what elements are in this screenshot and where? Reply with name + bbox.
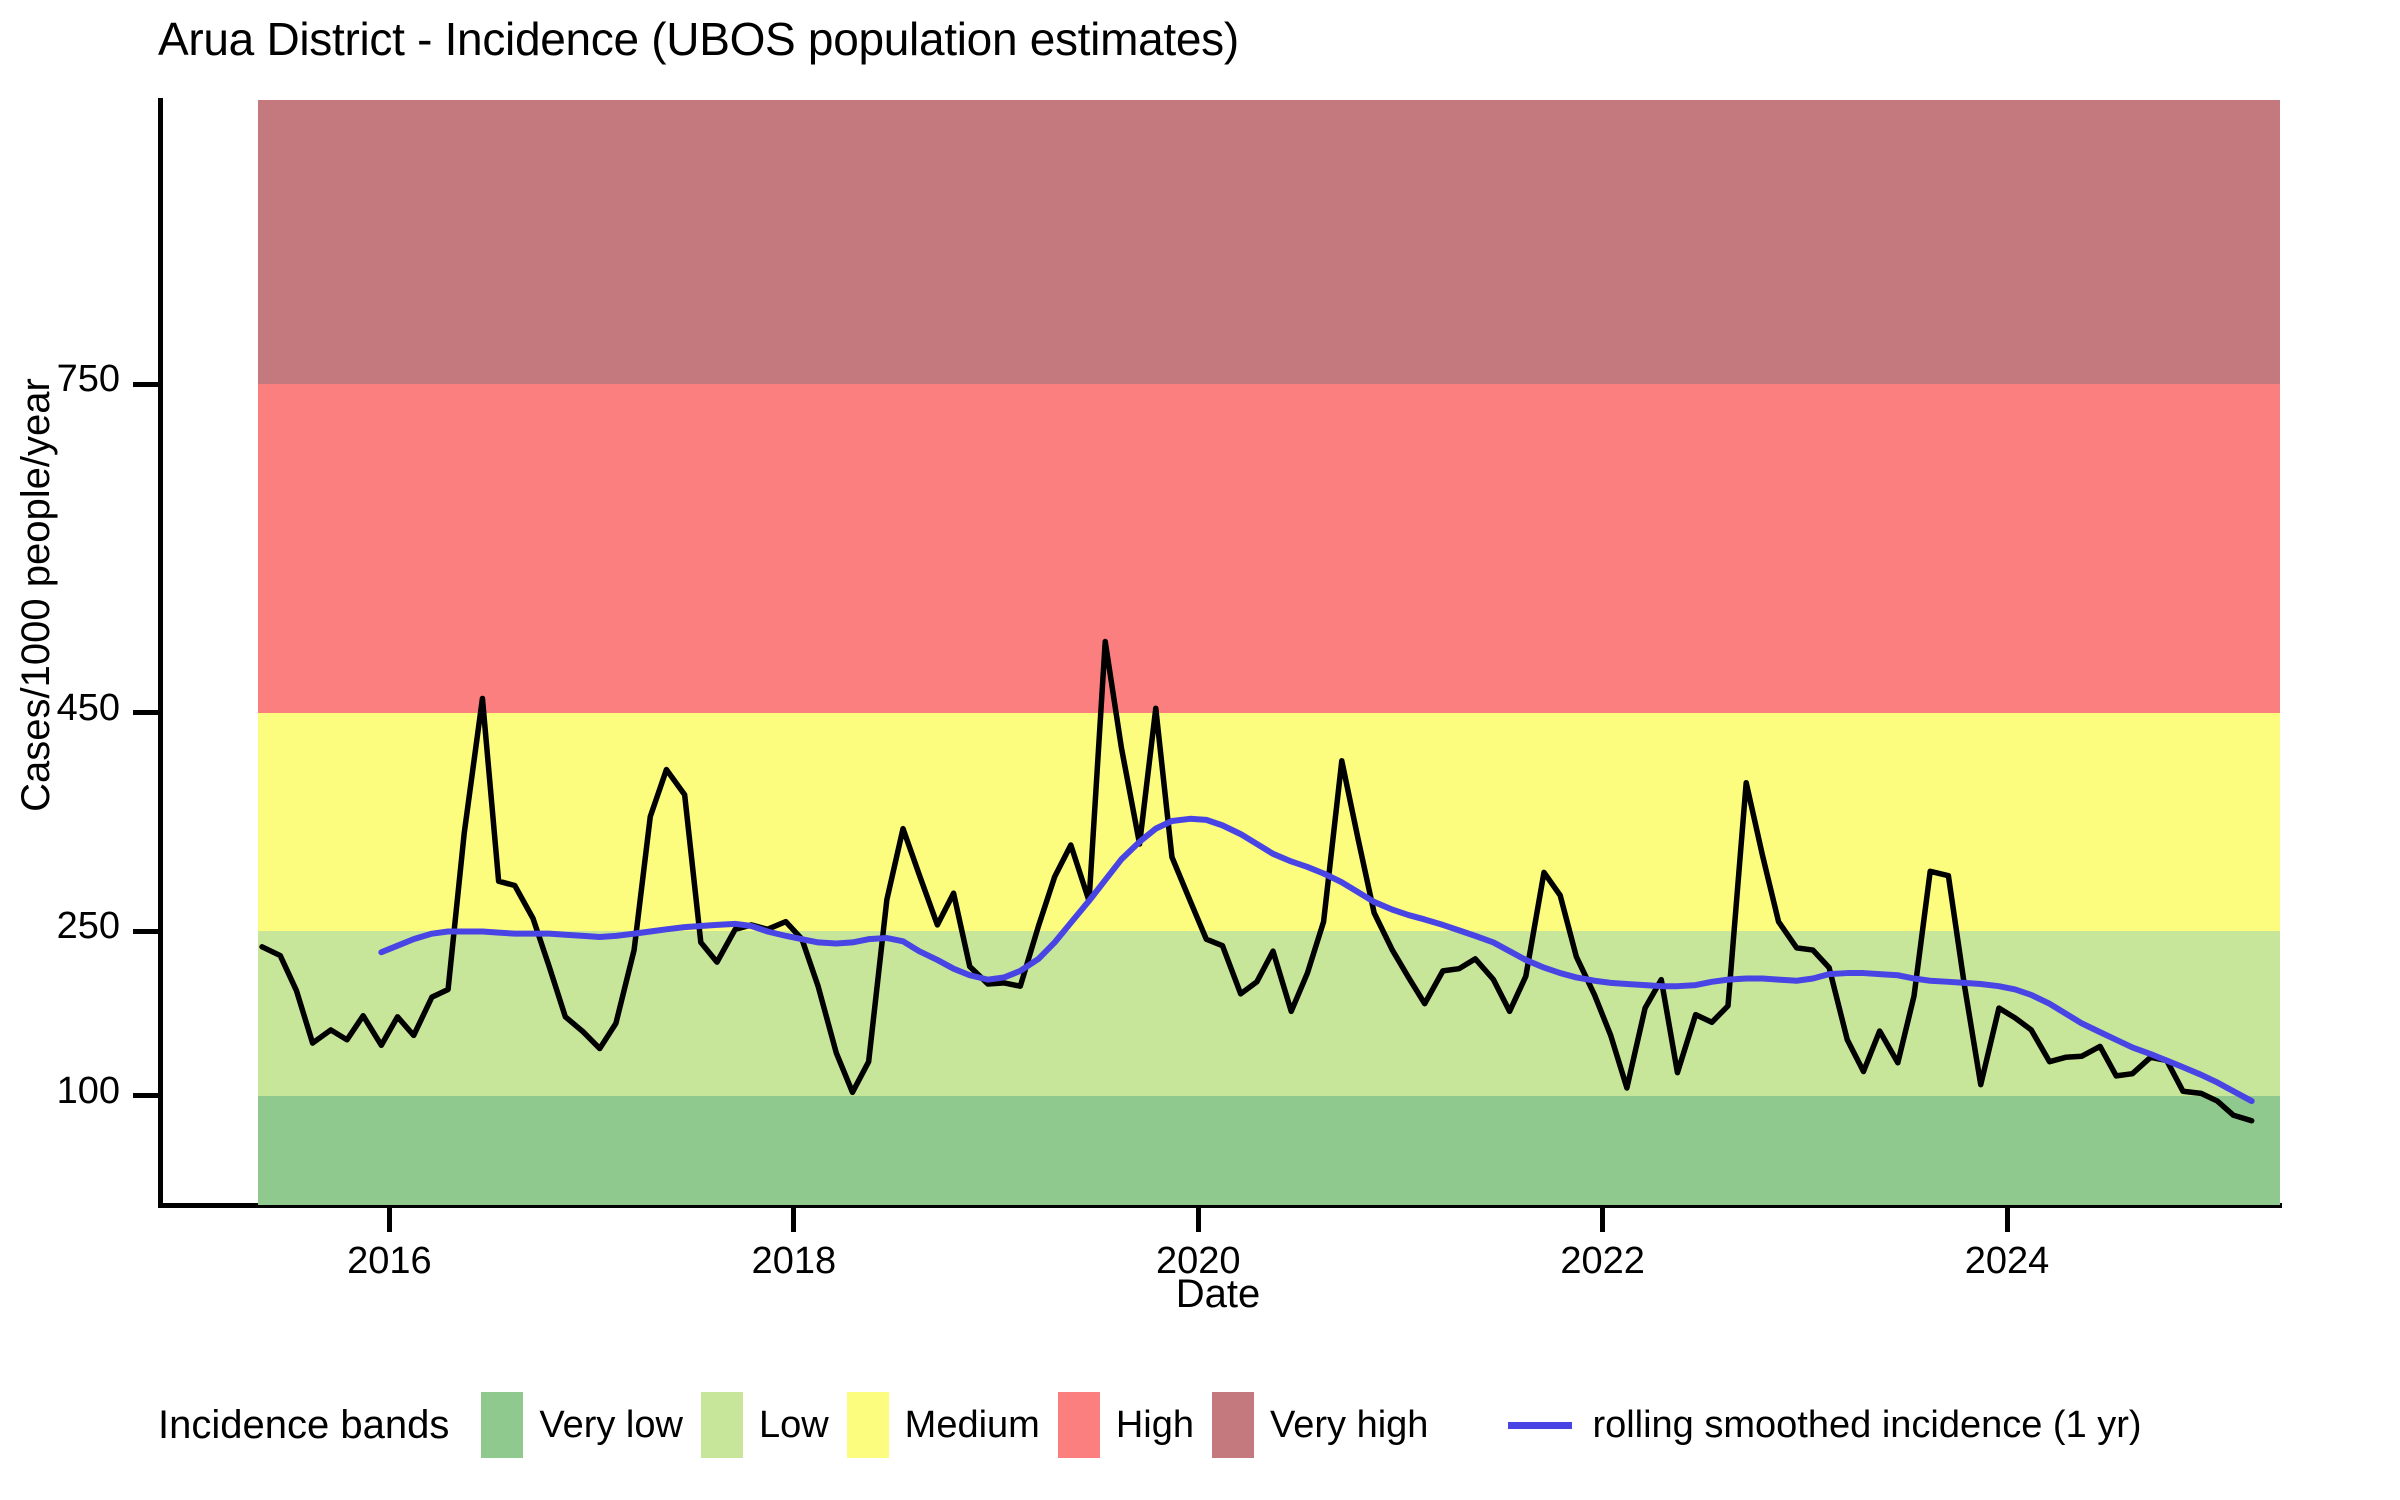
legend-item-low[interactable]: Low bbox=[701, 1392, 829, 1458]
legend-item-label: Low bbox=[759, 1404, 829, 1447]
x-axis-title: Date bbox=[158, 1272, 2278, 1317]
x-tick-2016 bbox=[387, 1208, 392, 1232]
color-swatch-icon bbox=[701, 1392, 743, 1458]
legend-item-label: rolling smoothed incidence (1 yr) bbox=[1592, 1404, 2141, 1447]
y-axis-line bbox=[158, 98, 163, 1208]
legend-item-rolling-smoothed[interactable]: rolling smoothed incidence (1 yr) bbox=[1508, 1404, 2141, 1447]
y-tick-250 bbox=[133, 929, 158, 934]
legend-item-high[interactable]: High bbox=[1058, 1392, 1194, 1458]
y-tick-450 bbox=[133, 710, 158, 715]
y-tick-750 bbox=[133, 382, 158, 387]
legend-title: Incidence bands bbox=[158, 1403, 449, 1448]
x-tick-2020 bbox=[1196, 1208, 1201, 1232]
legend: Incidence bands Very lowLowMediumHighVer… bbox=[158, 1370, 2142, 1480]
y-tick-100 bbox=[133, 1093, 158, 1098]
series-layer bbox=[258, 100, 2280, 1205]
color-swatch-icon bbox=[847, 1392, 889, 1458]
color-swatch-icon bbox=[1212, 1392, 1254, 1458]
legend-item-very-high[interactable]: Very high bbox=[1212, 1392, 1428, 1458]
y-axis-title: Cases/1000 people/year bbox=[14, 15, 58, 1175]
x-tick-2024 bbox=[2005, 1208, 2010, 1232]
legend-item-medium[interactable]: Medium bbox=[847, 1392, 1040, 1458]
y-tick-label-250: 250 bbox=[57, 905, 120, 948]
legend-item-label: Very high bbox=[1270, 1404, 1428, 1447]
y-tick-label-100: 100 bbox=[57, 1070, 120, 1113]
chart-root: Arua District - Incidence (UBOS populati… bbox=[0, 0, 2400, 1500]
y-tick-label-750: 750 bbox=[57, 358, 120, 401]
x-tick-2018 bbox=[791, 1208, 796, 1232]
color-swatch-icon bbox=[1058, 1392, 1100, 1458]
plot-panel bbox=[258, 100, 2280, 1205]
legend-item-very-low[interactable]: Very low bbox=[481, 1392, 683, 1458]
legend-item-label: Medium bbox=[905, 1404, 1040, 1447]
legend-item-label: Very low bbox=[539, 1404, 683, 1447]
x-tick-2022 bbox=[1600, 1208, 1605, 1232]
y-tick-label-450: 450 bbox=[57, 687, 120, 730]
rolling-smoothed-incidence-line bbox=[381, 819, 2251, 1101]
legend-item-label: High bbox=[1116, 1404, 1194, 1447]
page-title: Arua District - Incidence (UBOS populati… bbox=[158, 12, 1239, 66]
monthly-incidence-line bbox=[262, 642, 2252, 1121]
legend-band-items: Very lowLowMediumHighVery high bbox=[481, 1392, 1446, 1458]
line-swatch-icon bbox=[1508, 1422, 1572, 1429]
color-swatch-icon bbox=[481, 1392, 523, 1458]
